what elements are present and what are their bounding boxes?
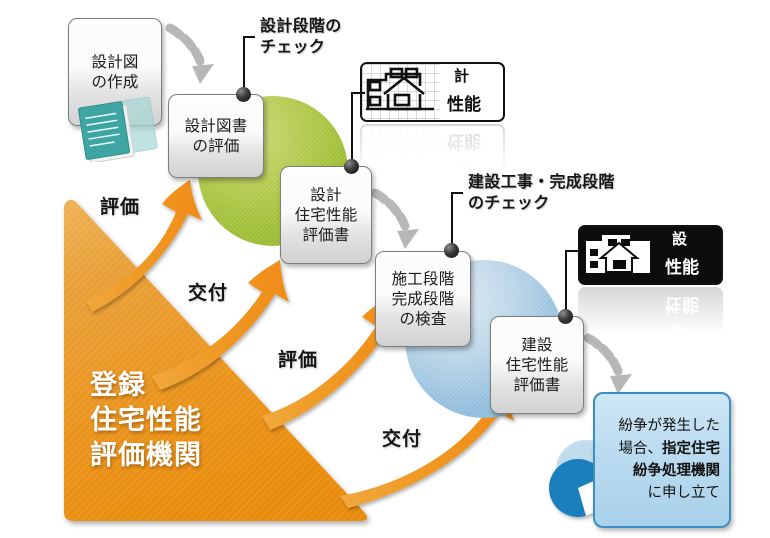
box-design-cert-label: 設計 住宅性能 評価書 <box>295 185 358 245</box>
box-design-cert[interactable]: 設計 住宅性能 評価書 <box>280 166 372 264</box>
design-certification-badge: 設 計 性能評価 設 計 性能評価 <box>360 62 505 184</box>
leader-line-design-check-v <box>243 36 245 91</box>
leader-line-design-check-h <box>243 36 255 38</box>
dispute-line2-plain: 場合、 <box>619 441 663 457</box>
diagram-canvas: 登録 住宅性能 評価機関 設計図 の作成 設計図書 の評価 <box>0 0 770 538</box>
design-badge-text: 設 計 性能評価 <box>440 64 503 120</box>
design-documents-icon <box>72 96 168 162</box>
dispute-line2-bold: 指定住宅 <box>662 441 720 457</box>
leader-line-construction-badge-h <box>565 250 579 252</box>
box-construction-inspection-label: 施工段階 完成段階 の検査 <box>392 269 455 329</box>
callout-design-stage-check: 設計段階の チェック <box>260 16 342 58</box>
flow-label-issue-1: 交付 <box>188 278 228 305</box>
box-design-doc-eval-label: 設計図書 の評価 <box>185 116 248 156</box>
design-badge-line2: 性能評価 <box>447 90 496 123</box>
leader-line-construction-check-v <box>451 192 453 247</box>
dispute-resolution-box[interactable]: 紛争が発生した 場合、指定住宅 紛争処理機関 に申し立て <box>593 392 731 528</box>
construction-badge-reflection: 建 設 性能評価 <box>578 287 723 347</box>
box-construction-inspection[interactable]: 施工段階 完成段階 の検査 <box>375 251 471 347</box>
box-construction-cert-label: 建設 住宅性能 評価書 <box>506 335 569 395</box>
construction-badge-text: 建 設 性能評価 <box>658 227 721 283</box>
construction-badge-line1: 建 設 <box>665 225 714 250</box>
dispute-text: 紛争が発生した 場合、指定住宅 紛争処理機関 に申し立て <box>619 415 721 505</box>
flow-label-eval-2: 評価 <box>278 345 318 372</box>
house-grid-icon <box>362 64 440 120</box>
house-solid-icon <box>580 227 658 283</box>
box-construction-cert[interactable]: 建設 住宅性能 評価書 <box>490 316 584 414</box>
gray-arrow-3 <box>375 193 419 249</box>
design-badge-body: 設 計 性能評価 <box>360 62 505 122</box>
callout-construction-stage-check: 建設工事・完成段階 のチェック <box>468 172 615 214</box>
registered-org-label: 登録 住宅性能 評価機関 <box>90 368 202 473</box>
marker-dot-design-cert <box>344 159 359 174</box>
construction-badge-body: 建 設 性能評価 <box>578 225 723 285</box>
leader-line-construction-check-h <box>451 192 463 194</box>
dispute-line4: に申し立て <box>648 485 721 501</box>
flow-label-issue-2: 交付 <box>382 424 422 451</box>
flow-label-eval-1: 評価 <box>100 192 140 219</box>
marker-dot-design-eval <box>236 87 251 102</box>
dispute-line3-bold: 紛争処理機関 <box>633 463 720 479</box>
design-badge-line1: 設 計 <box>447 62 496 87</box>
construction-badge-line2: 性能評価 <box>665 253 714 286</box>
marker-dot-construction-cert <box>558 309 573 324</box>
gray-arrow-1 <box>170 28 214 84</box>
construction-certification-badge: 建 設 性能評価 建 設 性能評価 <box>578 225 723 347</box>
leader-line-design-badge-h <box>351 92 365 94</box>
leader-line-design-badge-v <box>351 92 353 163</box>
marker-dot-construction-insp <box>444 243 459 258</box>
leader-line-construction-badge-v <box>565 250 567 313</box>
box-design-drawing-label: 設計図 の作成 <box>91 52 138 92</box>
dispute-line1: 紛争が発生した <box>619 418 721 434</box>
box-design-doc-eval[interactable]: 設計図書 の評価 <box>168 94 264 178</box>
